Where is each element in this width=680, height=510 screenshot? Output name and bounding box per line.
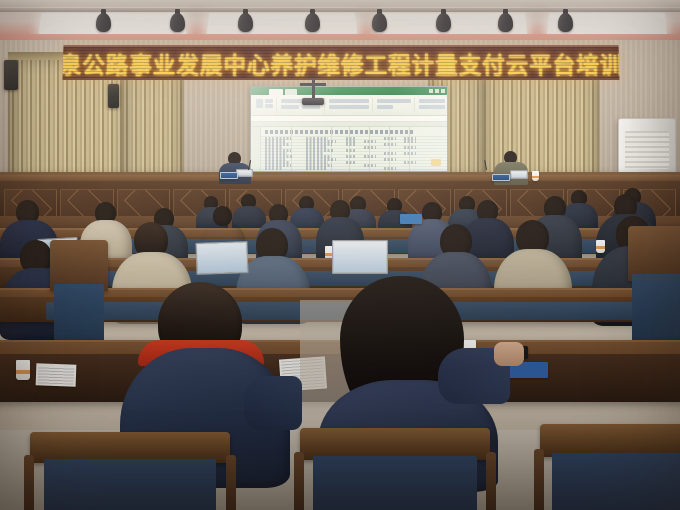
photo-scene: 酒泉公路事业发展中心养护维修工程计量支付云平台培训班 [0,0,680,510]
banner-text: 酒泉公路事业发展中心养护维修工程计量支付云平台培训班 [63,46,620,80]
document [36,363,77,386]
spreadsheet-ribbon [251,95,447,116]
chair [628,226,680,346]
projection-screen [250,86,448,172]
chair [50,240,108,350]
foreground-chair [30,432,230,510]
stage-spotlight [238,9,253,32]
spreadsheet-cell-badge [431,159,441,166]
attendee-laptop [195,241,248,275]
spreadsheet-doc-title [265,130,415,134]
foreground-chair [300,428,490,510]
presenter-right-nameplate [492,174,510,181]
stage-spotlight [305,9,320,32]
stage-spotlight [96,9,111,32]
stage-spotlight [372,9,387,32]
foreground-chair [540,424,680,510]
projector [302,98,324,105]
arm [244,376,302,430]
presenter-right-laptop [510,170,528,179]
stage-spotlight [436,9,451,32]
projector-mount-pole [312,78,315,100]
presenter-left-nameplate [220,172,238,179]
spreadsheet-row-headers [251,127,261,171]
spreadsheet-titlebar [251,87,447,95]
stage-spotlight [170,9,185,32]
stage-spotlight [558,9,573,32]
hand [494,342,524,366]
ceiling-light-panel [39,13,187,35]
attendee-laptop [332,240,388,274]
spreadsheet-display [251,87,447,171]
ceiling-light-panel [207,13,358,35]
wall-speaker [4,60,18,90]
paper-cup [532,171,539,181]
spreadsheet-grid [251,122,447,171]
presenter-left-laptop [236,169,253,177]
paper-cup [16,360,30,380]
ceiling-band [0,0,680,7]
stage-spotlight [498,9,513,32]
led-banner: 酒泉公路事业发展中心养护维修工程计量支付云平台培训班 [63,45,620,80]
wall-speaker [108,84,119,108]
notebook [400,214,422,224]
